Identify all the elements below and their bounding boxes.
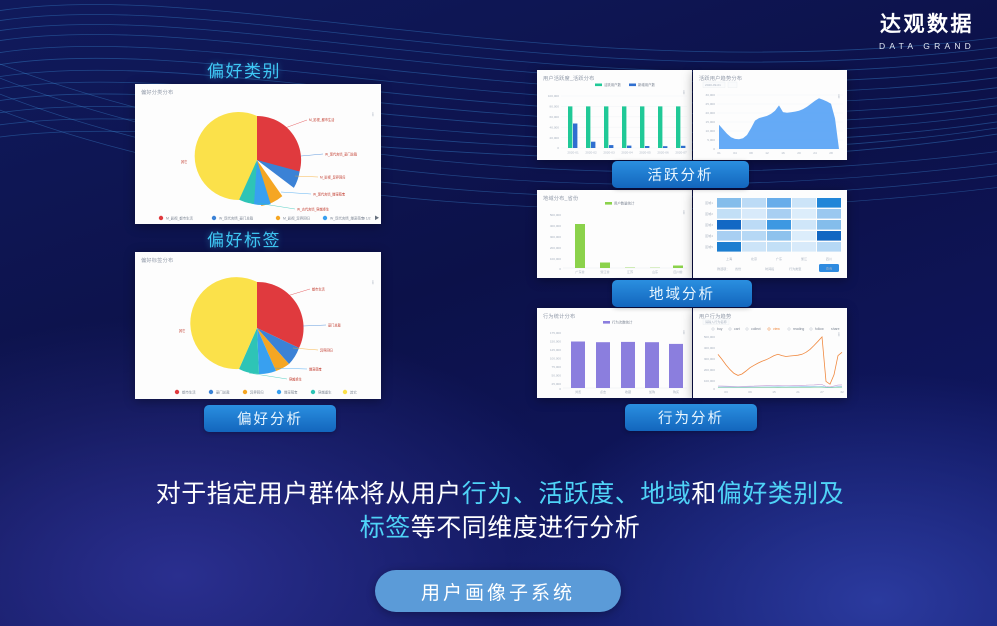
svg-text:0: 0 <box>559 387 561 391</box>
svg-text:21: 21 <box>796 390 800 394</box>
pie-legend: 都市生活 豪门总裁 异界回归 爆宠萌宝 穿越重生 其它 <box>175 389 358 394</box>
pie-label: M_影视_异界回归 <box>320 175 345 180</box>
download-icon[interactable]: ⭳ <box>683 328 685 338</box>
y-axis-ticks: 500,000400,000 300,000200,000 100,0000 <box>550 213 561 271</box>
column-labels: 上海北京 广东浙江 四川 <box>726 256 832 261</box>
svg-text:5,000: 5,000 <box>707 138 715 142</box>
svg-text:125,000: 125,000 <box>550 348 561 352</box>
svg-text:100,000: 100,000 <box>704 379 715 383</box>
svg-text:区域3: 区域3 <box>705 222 713 227</box>
svg-text:400,000: 400,000 <box>704 346 715 350</box>
svg-text:27: 27 <box>820 390 824 394</box>
svg-text:175,000: 175,000 <box>550 331 561 335</box>
svg-text:2020-03: 2020-03 <box>603 151 615 155</box>
pie-label: 穿越重生 <box>289 377 303 382</box>
pie-label: W_古代言情_穿越重生 <box>297 207 330 212</box>
pie-legend-pager: 4 1/2 <box>363 216 371 220</box>
section-title-preference-tag: 偏好标签 <box>207 226 281 251</box>
download-icon[interactable]: ⭳ <box>683 208 685 218</box>
svg-text:豪门总裁: 豪门总裁 <box>216 389 230 394</box>
svg-text:江苏: 江苏 <box>627 269 633 274</box>
svg-text:点击: 点击 <box>600 389 606 394</box>
svg-text:40,000: 40,000 <box>550 125 560 129</box>
logo-en: DATA GRAND <box>879 41 975 51</box>
svg-text:区域1: 区域1 <box>705 200 713 205</box>
caption-behavior-analysis[interactable]: 行为分析 <box>625 404 757 431</box>
svg-text:行为类型: 行为类型 <box>789 266 801 271</box>
svg-text:30,000: 30,000 <box>706 93 716 97</box>
download-icon[interactable]: ⭳ <box>838 330 840 340</box>
svg-text:75,000: 75,000 <box>552 365 562 369</box>
summary-highlight1: 行为、活跃度、地域 <box>462 480 692 508</box>
svg-text:爆宠萌宝: 爆宠萌宝 <box>284 389 298 394</box>
svg-text:上海: 上海 <box>726 256 732 261</box>
svg-text:reading: reading <box>793 327 804 331</box>
svg-text:100,000: 100,000 <box>550 357 561 361</box>
legend: buy cart collect view reading follow sha… <box>712 327 840 331</box>
svg-text:广东: 广东 <box>776 256 782 261</box>
svg-text:购买: 购买 <box>673 389 679 394</box>
svg-text:16: 16 <box>781 151 785 155</box>
panel-caption: 用户行为趋势 <box>699 313 731 320</box>
panel-caption: 活跃用户趋势分布 <box>699 75 742 82</box>
svg-text:浙江: 浙江 <box>801 256 807 261</box>
summary-seg2: 和 <box>691 480 717 508</box>
svg-text:03: 03 <box>724 390 728 394</box>
svg-text:查询: 查询 <box>826 266 832 271</box>
svg-text:2020-06: 2020-06 <box>657 151 669 155</box>
svg-text:04: 04 <box>733 151 737 155</box>
pie-slices <box>195 112 303 212</box>
svg-text:区域4: 区域4 <box>705 233 713 238</box>
svg-text:32: 32 <box>840 390 844 394</box>
svg-text:用户数量统计: 用户数量统计 <box>614 201 635 206</box>
filter-row: 筛选项：省份 时间段行为类型 <box>717 266 801 271</box>
bar-chart-activity: 活跃用户数 新增用户数 100,00080,000 60,00040,000 2… <box>537 70 692 160</box>
caption-activity-analysis[interactable]: 活跃分析 <box>612 161 749 188</box>
panel-caption: 偏好分类分布 <box>141 89 173 96</box>
panel-activity-bar[interactable]: 用户活跃度_活跃分布 ⭳ 活跃用户数 新增用户数 100,00080,000 6… <box>537 70 692 160</box>
x-axis-ticks: 广东省浙江省 江苏山东 四川省 <box>575 269 682 274</box>
svg-text:400,000: 400,000 <box>550 224 561 228</box>
svg-text:50,000: 50,000 <box>552 374 562 378</box>
panel-region-bar[interactable]: 地域分布_省份 ⭳ 用户数量统计 500,000400,000 300,0002… <box>537 190 692 278</box>
svg-text:收藏: 收藏 <box>625 389 631 394</box>
svg-text:浙江省: 浙江省 <box>600 269 609 274</box>
download-icon[interactable]: ⭳ <box>372 110 374 120</box>
svg-text:0: 0 <box>713 147 715 151</box>
summary-text: 对于指定用户群体将从用户行为、活跃度、地域和偏好类别及标签等不同维度进行分析 <box>150 478 850 546</box>
area-chart-activity-trend: 2020-09-01 30,00025,000 20,00015,000 10,… <box>693 70 847 160</box>
legend: 活跃用户数 新增用户数 <box>595 82 656 87</box>
caption-preference-analysis[interactable]: 偏好分析 <box>204 405 336 432</box>
download-icon[interactable]: ⭳ <box>683 88 685 98</box>
caption-region-analysis[interactable]: 地域分析 <box>612 280 752 307</box>
summary-seg1: 对于指定用户群体将从用户 <box>156 480 462 508</box>
svg-text:25,000: 25,000 <box>706 102 716 106</box>
svg-text:M_影视_都市生活: M_影视_都市生活 <box>166 215 194 220</box>
legend: 用户数量统计 <box>605 201 635 206</box>
svg-text:W_现代言情_爆宠萌宝: W_现代言情_爆宠萌宝 <box>330 215 365 220</box>
svg-text:2020-07: 2020-07 <box>675 151 687 155</box>
section-title-preference-category: 偏好类别 <box>207 57 281 82</box>
panel-activity-area[interactable]: 活跃用户趋势分布 ⭳ 2020-09-01 30,00025,000 20,00… <box>693 70 847 160</box>
svg-text:2020-09-01: 2020-09-01 <box>705 83 721 87</box>
svg-text:200,000: 200,000 <box>704 368 715 372</box>
svg-text:20: 20 <box>797 151 801 155</box>
svg-text:100,000: 100,000 <box>550 257 561 261</box>
svg-text:100,000: 100,000 <box>548 94 559 98</box>
svg-text:M_影视_异界回归: M_影视_异界回归 <box>283 215 311 220</box>
svg-text:80,000: 80,000 <box>550 105 560 109</box>
svg-text:collect: collect <box>751 327 761 331</box>
svg-text:cart: cart <box>734 327 740 331</box>
panel-caption: 地域分布_省份 <box>543 195 578 202</box>
svg-text:24: 24 <box>813 151 817 155</box>
pie-label: M_影视_都市生活 <box>309 117 335 122</box>
svg-text:12: 12 <box>765 151 769 155</box>
svg-text:穿越重生: 穿越重生 <box>318 389 332 394</box>
pie-label: 其它 <box>181 159 187 164</box>
svg-text:2020-05: 2020-05 <box>639 151 651 155</box>
bars <box>575 224 683 268</box>
heatmap-region: 区域1区域2 区域3区域4 区域5 上海北京 广东浙江 四川 筛选项：省份 时间… <box>693 190 847 278</box>
panel-behavior-line[interactable]: 用户行为趋势 ⭳ 请输入行为名称 buy cart collect view r… <box>693 308 847 398</box>
bar-chart-behavior: 行为次数统计 175,000150,000 125,000100,000 75,… <box>537 308 692 398</box>
svg-text:01: 01 <box>717 151 721 155</box>
y-axis-ticks: 100,00080,000 60,00040,000 20,0000 <box>548 94 559 150</box>
svg-text:0: 0 <box>557 146 559 150</box>
svg-text:25,000: 25,000 <box>552 382 562 386</box>
pie-label: W_现代言情_豪门总裁 <box>325 152 358 157</box>
heat-cells <box>717 198 841 252</box>
y-axis-ticks: 175,000150,000 125,000100,000 75,00050,0… <box>550 331 561 391</box>
svg-text:浏览: 浏览 <box>575 389 581 394</box>
svg-text:150,000: 150,000 <box>550 340 561 344</box>
svg-text:时间段: 时间段 <box>765 266 774 271</box>
svg-text:2020-02: 2020-02 <box>585 151 597 155</box>
svg-text:都市生活: 都市生活 <box>182 389 196 394</box>
pie-label: 都市生活 <box>312 287 326 292</box>
x-axis-ticks: 2020-012020-02 2020-032020-04 2020-05202… <box>567 151 687 155</box>
svg-text:20,000: 20,000 <box>706 111 716 115</box>
svg-text:四川: 四川 <box>826 257 832 261</box>
svg-text:60,000: 60,000 <box>550 115 560 119</box>
pie-label: 豪门总裁 <box>328 323 342 328</box>
svg-text:筛选项：: 筛选项： <box>717 266 729 271</box>
svg-text:新增用户数: 新增用户数 <box>638 82 656 87</box>
pie-slices <box>190 277 303 374</box>
svg-text:省份: 省份 <box>735 266 741 271</box>
panel-region-grid[interactable]: 区域1区域2 区域3区域4 区域5 上海北京 广东浙江 四川 筛选项：省份 时间… <box>693 190 847 278</box>
panel-preference-category[interactable]: 偏好分类分布 ⭳ M_影视_都市生活 W_现代言情_豪门总裁 M_影视_异界回归… <box>135 84 381 224</box>
svg-text:四川省: 四川省 <box>673 269 682 274</box>
svg-text:300,000: 300,000 <box>704 357 715 361</box>
svg-text:0: 0 <box>559 267 561 271</box>
svg-text:异界回归: 异界回归 <box>250 389 264 394</box>
panel-preference-tag[interactable]: 偏好标签分布 ⭳ 都市生活 豪门总裁 异界回归 爆宠萌宝 穿越重生 其它 <box>135 252 381 399</box>
x-axis-ticks: 030915 212732 <box>724 390 844 394</box>
download-icon[interactable]: ⭳ <box>372 278 374 288</box>
svg-text:2020-04: 2020-04 <box>621 151 633 155</box>
pie-label: 其它 <box>179 328 185 333</box>
svg-text:活跃用户数: 活跃用户数 <box>604 82 622 87</box>
download-icon[interactable]: ⭳ <box>838 92 840 102</box>
svg-text:10,000: 10,000 <box>706 129 716 133</box>
slide-canvas: 达观数据 DATA GRAND 偏好类别 偏好标签 偏好分类分布 ⭳ M_影视_… <box>0 0 997 626</box>
pie-label: 爆宠萌宝 <box>309 367 322 372</box>
svg-text:view: view <box>773 327 780 331</box>
svg-text:区域5: 区域5 <box>705 244 713 249</box>
pie-chart-preference-category: M_影视_都市生活 W_现代言情_豪门总裁 M_影视_异界回归 W_现代言情_爆… <box>135 84 381 224</box>
svg-text:山东: 山东 <box>652 269 658 274</box>
y-axis-ticks: 500,000400,000 300,000200,000 100,0000 <box>704 335 715 391</box>
row-labels: 区域1区域2 区域3区域4 区域5 <box>705 200 713 249</box>
series-collect <box>718 387 842 388</box>
bar-chart-region: 用户数量统计 500,000400,000 300,000200,000 100… <box>537 190 692 278</box>
pie-legend: M_影视_都市生活 W_现代言情_豪门总裁 M_影视_异界回归 W_现代言情_爆… <box>159 215 365 220</box>
summary-seg3: 等不同维度进行分析 <box>411 514 641 542</box>
area-fill <box>719 98 839 149</box>
y-axis-ticks: 30,00025,000 20,00015,000 10,0005,000 0 <box>706 93 716 151</box>
main-subsystem-button[interactable]: 用户画像子系统 <box>375 570 621 612</box>
brand-logo: 达观数据 DATA GRAND <box>879 8 975 51</box>
view-toggle <box>728 82 737 88</box>
svg-text:区域2: 区域2 <box>705 211 713 216</box>
svg-text:500,000: 500,000 <box>550 213 561 217</box>
svg-text:行为次数统计: 行为次数统计 <box>612 320 633 325</box>
svg-text:W_现代言情_豪门总裁: W_现代言情_豪门总裁 <box>219 215 254 220</box>
svg-text:200,000: 200,000 <box>550 246 561 250</box>
x-axis-ticks: 浏览点击 收藏加购 购买 <box>575 389 679 394</box>
series-view <box>718 337 842 384</box>
svg-text:500,000: 500,000 <box>704 335 715 339</box>
svg-text:加购: 加购 <box>649 389 655 394</box>
svg-text:0: 0 <box>713 387 715 391</box>
x-axis-ticks: 010408 121620 2428 <box>717 151 833 155</box>
panel-caption: 偏好标签分布 <box>141 257 173 264</box>
svg-text:北京: 北京 <box>751 256 757 261</box>
svg-text:其它: 其它 <box>350 389 357 394</box>
panel-behavior-bar[interactable]: 行为统计分布 ⭳ 行为次数统计 175,000150,000 125,00010… <box>537 308 692 398</box>
panel-caption: 行为统计分布 <box>543 313 575 320</box>
bars <box>571 342 683 389</box>
panel-caption: 用户活跃度_活跃分布 <box>543 75 595 82</box>
svg-text:15,000: 15,000 <box>706 120 716 124</box>
legend-next-arrow <box>375 216 379 221</box>
svg-text:buy: buy <box>717 327 723 331</box>
svg-text:15: 15 <box>772 390 776 394</box>
svg-text:2020-01: 2020-01 <box>567 151 579 155</box>
legend: 行为次数统计 <box>603 320 633 325</box>
pie-chart-preference-tag: 都市生活 豪门总裁 异界回归 爆宠萌宝 穿越重生 其它 都市生活 豪门总裁 异界… <box>135 252 381 399</box>
pie-label: W_现代言情_爆宠萌宝 <box>313 192 345 197</box>
svg-text:广东省: 广东省 <box>575 269 584 274</box>
svg-text:300,000: 300,000 <box>550 235 561 239</box>
line-chart-behavior-trend: 请输入行为名称 buy cart collect view reading fo… <box>693 308 847 398</box>
svg-text:follow: follow <box>815 327 824 331</box>
svg-text:20,000: 20,000 <box>550 136 560 140</box>
svg-text:09: 09 <box>748 390 752 394</box>
pie-label: 异界回归 <box>320 348 333 353</box>
svg-text:28: 28 <box>829 151 833 155</box>
logo-cn: 达观数据 <box>879 8 975 38</box>
svg-text:08: 08 <box>749 151 753 155</box>
